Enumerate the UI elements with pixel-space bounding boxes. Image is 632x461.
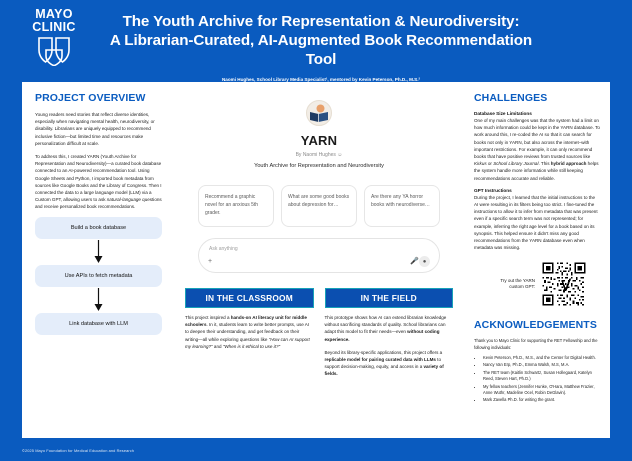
- overview-p2-a: To address this, I created YARN (Youth A…: [35, 154, 162, 202]
- challenge-1-text: One of my main challenges was that the s…: [474, 117, 600, 182]
- send-arrow-icon[interactable]: ●: [419, 256, 430, 267]
- footer-copyright: ©2025 Mayo Foundation for Medical Educat…: [22, 448, 134, 453]
- challenges-column: CHALLENGES Database Size Limitations One…: [464, 82, 610, 438]
- demo-column: YARN By Naomi Hughes ☺ Youth Archive for…: [174, 82, 464, 438]
- acknowledgements-intro: Thank you to Mayo Clinic for supporting …: [474, 338, 600, 350]
- field-heading: IN THE FIELD: [325, 288, 454, 308]
- acknowledgements-heading: ACKNOWLEDGEMENTS: [474, 319, 600, 331]
- chat-input-placeholder: Ask anything: [209, 246, 429, 252]
- challenge-1-italic-2: School Library Journal: [493, 161, 538, 166]
- classroom-text: This project inspired a hands-on AI lite…: [185, 314, 314, 350]
- challenge-1-a: One of my main challenges was that the s…: [474, 118, 600, 159]
- challenge-1-bold: hybrid approach: [551, 161, 587, 166]
- overview-paragraph-1: Young readers need stories that reflect …: [35, 111, 162, 147]
- yarn-gpt-screenshot: YARN By Naomi Hughes ☺ Youth Archive for…: [182, 92, 456, 273]
- chat-input-bar[interactable]: Ask anything + 🎤 ●: [198, 238, 440, 273]
- classroom-quote-2: "When is it ethical to use it?": [223, 344, 280, 349]
- open-book-person-avatar-icon: [306, 100, 332, 126]
- title-block: The Youth Archive for Representation & N…: [0, 0, 632, 90]
- field-p2-a: Beyond its library-specific applications…: [325, 350, 443, 355]
- poster-body: PROJECT OVERVIEW Young readers need stor…: [22, 82, 610, 438]
- classroom-heading: IN THE CLASSROOM: [185, 288, 314, 308]
- poster-header: MAYO CLINIC The Youth Archive for Repres…: [0, 0, 632, 78]
- flow-step-1: Build a book database: [35, 217, 162, 239]
- list-item: My fellow teachers (Jennifer Hunke, O'Ha…: [483, 384, 600, 396]
- mayo-clinic-logo: MAYO CLINIC: [22, 8, 86, 71]
- suggestion-card[interactable]: Recommend a graphic novel for an anxious…: [198, 185, 274, 227]
- classroom-text-c: and: [213, 344, 223, 349]
- list-item: Mark Zavella Ph.D. for writing the grant…: [483, 397, 600, 403]
- logo-text-clinic: CLINIC: [22, 21, 86, 34]
- challenge-2-title: GPT Instructions: [474, 188, 600, 193]
- qr-code-block: Try out the YARN custom GPT:: [474, 261, 600, 307]
- project-overview-column: PROJECT OVERVIEW Young readers need stor…: [22, 82, 174, 438]
- flow-step-3: Link database with LLM: [35, 313, 162, 335]
- acknowledgements-list: Kevin Peterson, Ph.D., M.S., and the Cen…: [483, 355, 600, 404]
- suggestion-card[interactable]: What are some good books about depressio…: [281, 185, 357, 227]
- challenge-1-title: Database Size Limitations: [474, 111, 600, 116]
- challenge-2-text: During the project, I learned that the i…: [474, 194, 600, 252]
- title-line-1: The Youth Archive for Representation & N…: [123, 13, 520, 30]
- title-line-2: A Librarian-Curated, AI-Augmented Book R…: [110, 32, 532, 68]
- field-section: IN THE FIELD This prototype shows how AI…: [325, 288, 454, 384]
- suggestion-cards: Recommend a graphic novel for an anxious…: [198, 185, 440, 227]
- mayo-shields-icon: [37, 36, 71, 71]
- plus-icon[interactable]: +: [208, 258, 212, 265]
- project-overview-heading: PROJECT OVERVIEW: [35, 92, 162, 104]
- application-sections: IN THE CLASSROOM This project inspired a…: [182, 288, 456, 384]
- gpt-byline-text: By Naomi Hughes: [296, 152, 336, 158]
- suggestion-card[interactable]: Are there any YA horror books with neuro…: [364, 185, 440, 227]
- gpt-byline: By Naomi Hughes ☺: [198, 152, 440, 158]
- flow-step-2: Use APIs to fetch metadata: [35, 265, 162, 287]
- qr-code-label: Try out the YARN custom GPT:: [487, 278, 535, 291]
- classroom-text-a: This project inspired a: [185, 315, 231, 320]
- challenge-1-c: . This: [538, 161, 550, 166]
- field-paragraph-1: This prototype shows how AI can extend l…: [325, 314, 454, 343]
- page-title: The Youth Archive for Representation & N…: [100, 12, 542, 69]
- challenge-1-italic-1: Kirkus: [474, 161, 487, 166]
- gpt-subtitle: Youth Archive for Representation and Neu…: [198, 163, 440, 169]
- classroom-section: IN THE CLASSROOM This project inspired a…: [185, 288, 314, 384]
- method-flowchart: Build a book database Use APIs to fetch …: [35, 217, 162, 335]
- challenges-heading: CHALLENGES: [474, 92, 600, 104]
- flow-arrow-2-icon: [35, 287, 162, 313]
- microphone-icon[interactable]: 🎤: [410, 258, 419, 265]
- overview-paragraph-2: To address this, I created YARN (Youth A…: [35, 153, 162, 211]
- field-p2-bold: replicable model for pairing curated dat…: [325, 357, 436, 362]
- list-item: Nancy Van Erp, Ph.D., Emma Walsh, M.S, M…: [483, 362, 600, 368]
- field-paragraph-2: Beyond its library-specific applications…: [325, 349, 454, 378]
- verified-person-icon: ☺: [337, 152, 342, 158]
- list-item: Kevin Peterson, Ph.D., M.S., and the Cen…: [483, 355, 600, 361]
- list-item: The RET team (Kaitlin Schwartz, Susan Ho…: [483, 370, 600, 382]
- qr-code[interactable]: [541, 261, 587, 307]
- flow-arrow-1-icon: [35, 239, 162, 265]
- gpt-name: YARN: [198, 133, 440, 148]
- overview-p2-italic: natural-language: [107, 197, 141, 202]
